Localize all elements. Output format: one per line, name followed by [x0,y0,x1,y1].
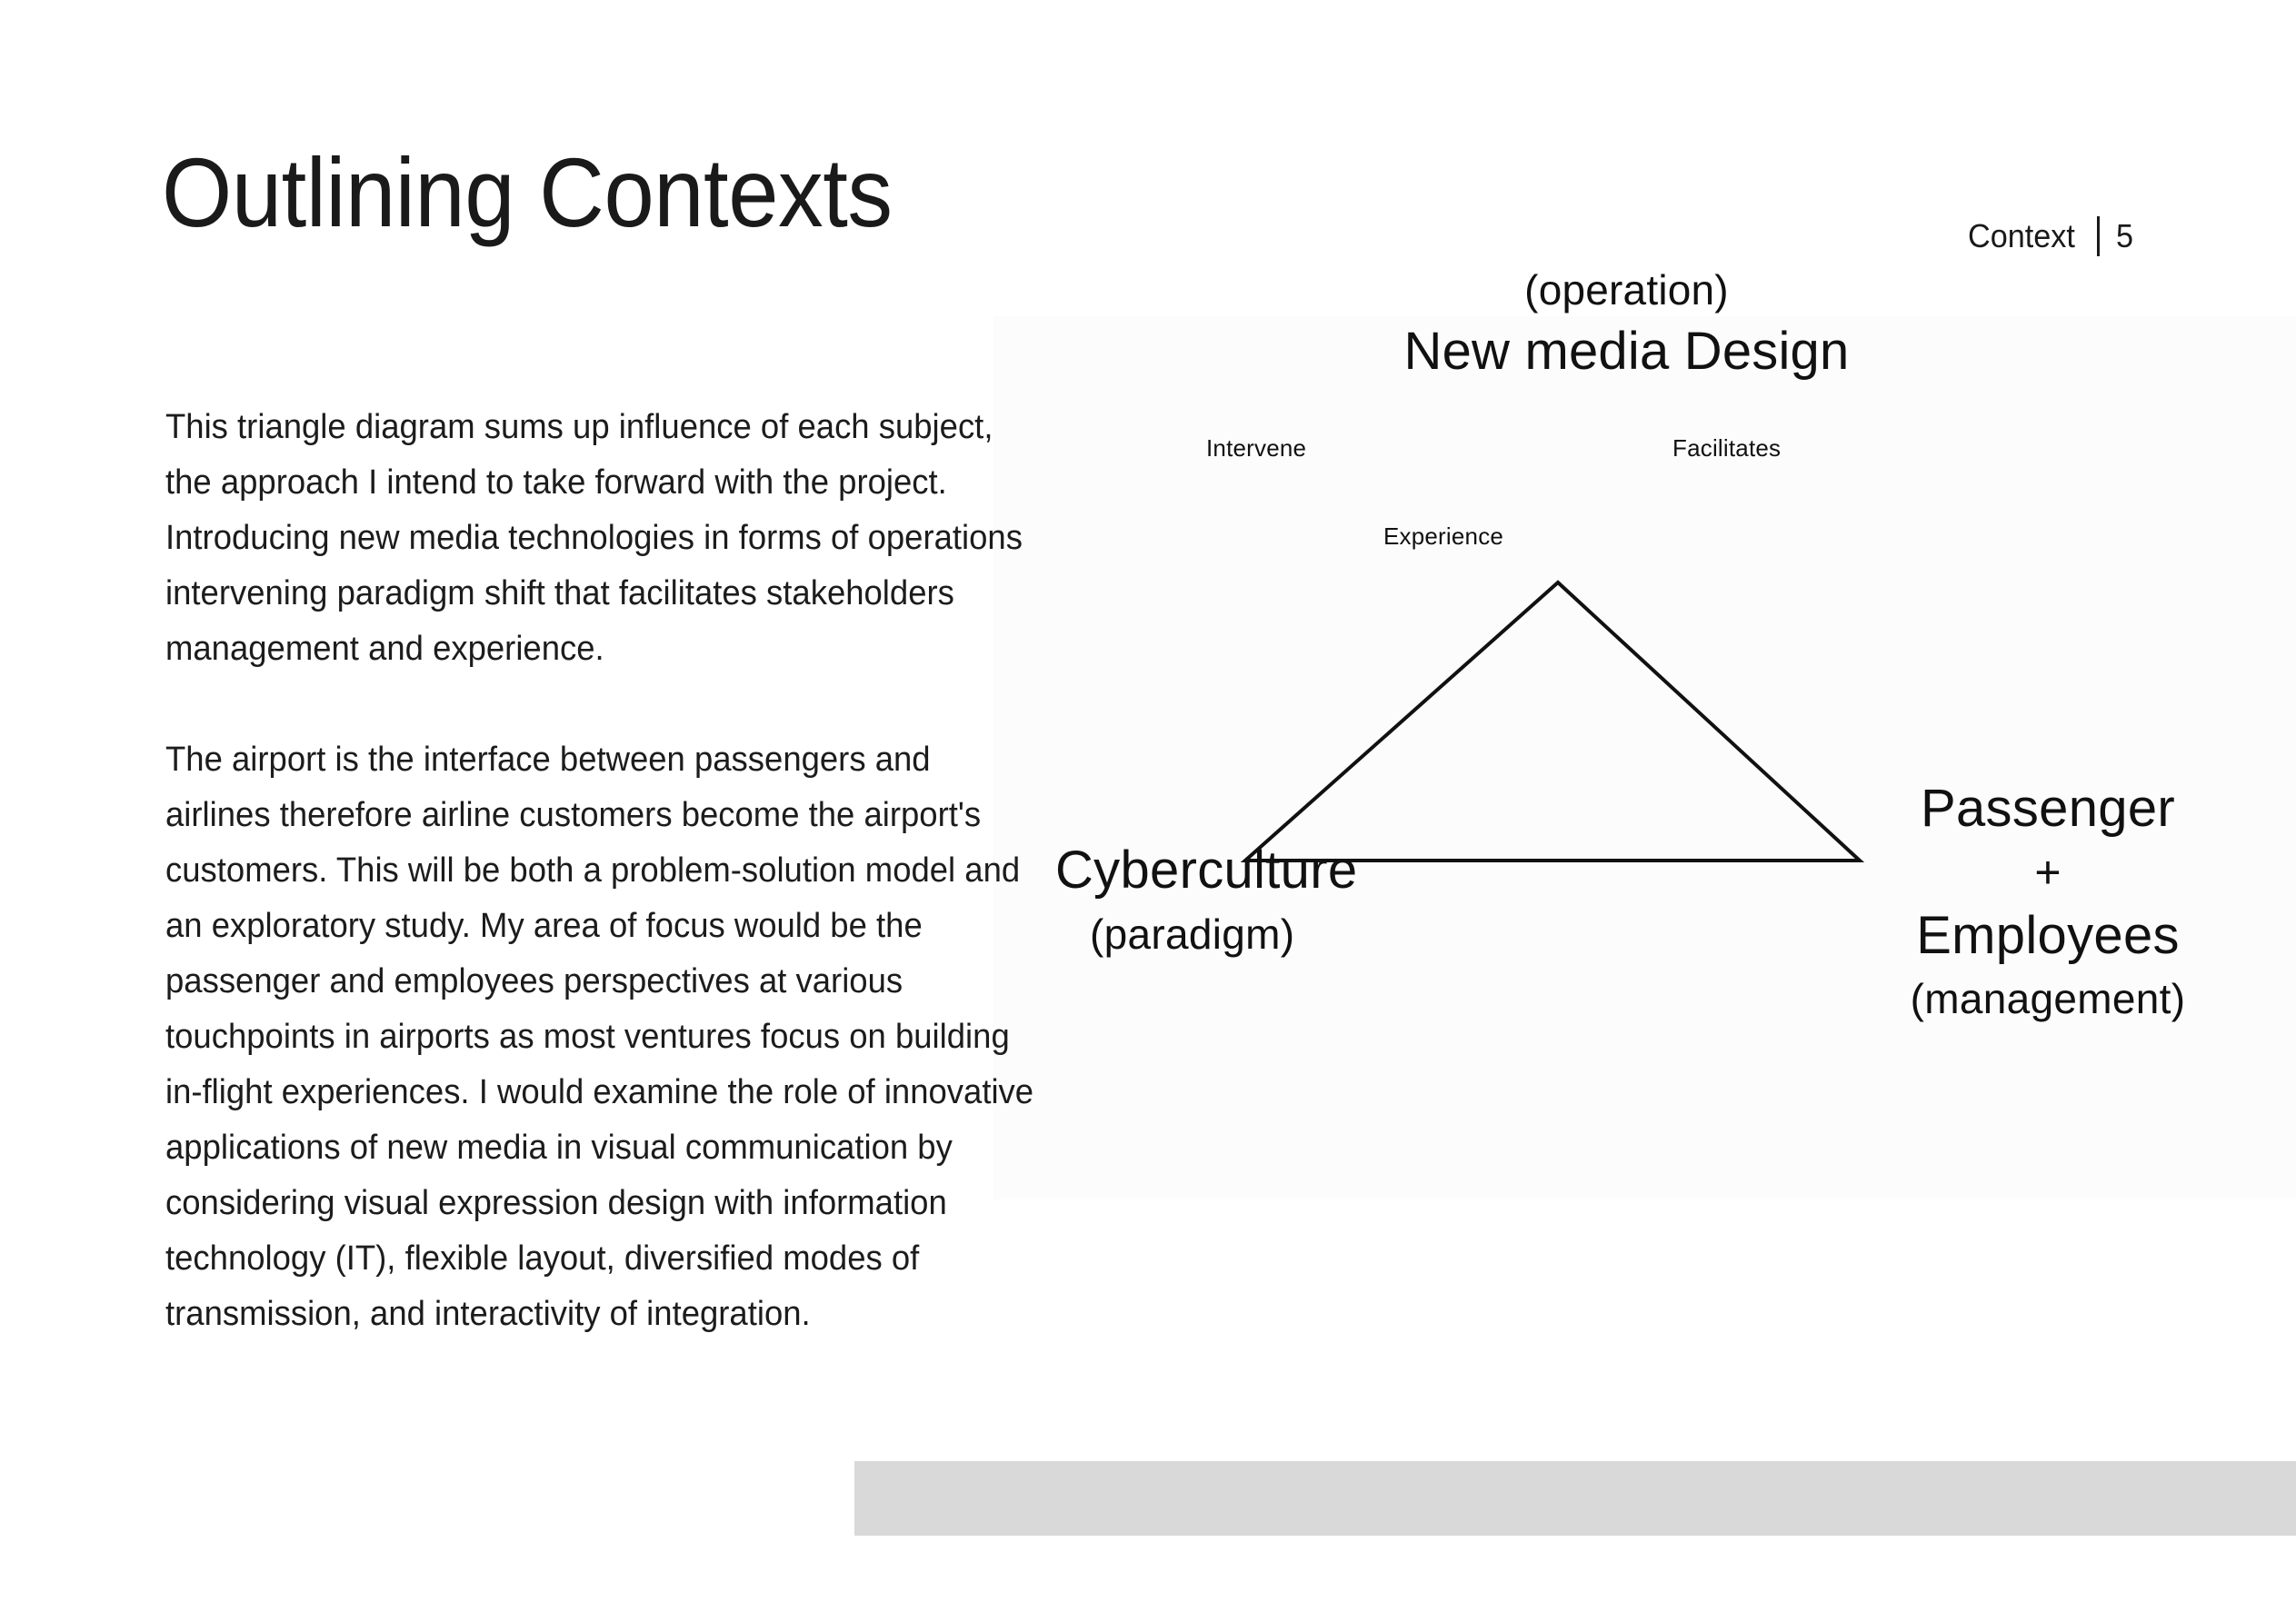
bottom-left-title: Cyberculture [1055,837,1510,904]
bottom-right-qualifier: (management) [1812,970,2284,1028]
node-cyberculture: Cyberculture (paradigm) [1055,837,1510,964]
meta-divider [2097,216,2100,256]
bottom-right-title-line-2: Employees [1812,902,2284,970]
apex-qualifier: (operation) [957,262,2296,318]
bottom-right-title-line-1: Passenger [1812,775,2284,842]
triangle-diagram: (operation) New media Design Cybercultur… [993,316,2296,1199]
page-title: Outlining Contexts [162,141,893,244]
body-paragraph-2: The airport is the interface between pas… [165,732,1038,1342]
section-label: Context [1968,217,2075,255]
bottom-left-qualifier: (paradigm) [1055,904,1510,964]
body-text-column: This triangle diagram sums up influence … [165,400,1074,1342]
edge-label-intervene: Intervene [1198,434,1314,463]
apex-title: New media Design [957,318,2296,385]
header-meta: Context 5 [1968,216,2134,256]
footer-bar [854,1461,2296,1536]
edge-label-experience: Experience [1375,522,1512,551]
page-number: 5 [2116,217,2133,255]
triangle-shape [1245,582,1860,861]
node-new-media-design: (operation) New media Design [993,262,2296,385]
triangle-outline-svg [993,316,2296,1199]
node-passenger-employees: Passenger + Employees (management) [1812,775,2284,1028]
body-paragraph-1: This triangle diagram sums up influence … [165,400,1038,677]
slide-canvas: Outlining Contexts Context 5 This triang… [0,0,2296,1622]
bottom-right-connector: + [1812,842,2284,902]
edge-label-facilitates: Facilitates [1664,434,1789,463]
